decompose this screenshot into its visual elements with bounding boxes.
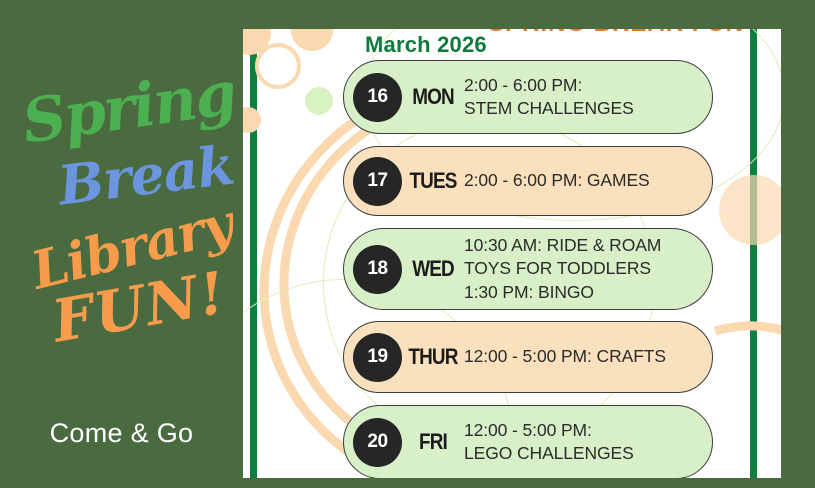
day-number-badge: 19 (353, 333, 402, 382)
event-line: STEM CHALLENGES (464, 97, 712, 120)
event-text: 2:00 - 6:00 PM: GAMES (464, 169, 712, 192)
day-abbr-label: WED (406, 256, 459, 282)
event-line: TOYS FOR TODDLERS (464, 257, 712, 280)
day-abbr-label: MON (406, 84, 459, 110)
flyer-panel: SPRING BREAK FUN March 2026 16 MON 2:00 … (243, 29, 781, 478)
schedule-row-fri[interactable]: 20 FRI 12:00 - 5:00 PM: LEGO CHALLENGES (343, 405, 713, 478)
event-line: 12:00 - 5:00 PM: CRAFTS (464, 345, 712, 368)
schedule-row-mon[interactable]: 16 MON 2:00 - 6:00 PM: STEM CHALLENGES (343, 60, 713, 134)
day-number-badge: 16 (353, 73, 402, 122)
schedule-row-tues[interactable]: 17 TUES 2:00 - 6:00 PM: GAMES (343, 146, 713, 216)
month-label: March 2026 (365, 32, 487, 58)
day-abbr-label: TUES (406, 168, 459, 194)
event-line: 2:00 - 6:00 PM: (464, 74, 712, 97)
event-line: 2:00 - 6:00 PM: GAMES (464, 169, 712, 192)
day-number-badge: 17 (353, 157, 402, 206)
day-number-badge: 18 (353, 245, 402, 294)
event-text: 12:00 - 5:00 PM: LEGO CHALLENGES (464, 419, 712, 465)
event-line: 1:30 PM: BINGO (464, 281, 712, 304)
flyer-clipped-heading: SPRING BREAK FUN (488, 29, 744, 38)
day-abbr-label: FRI (406, 429, 459, 455)
schedule-row-thur[interactable]: 19 THUR 12:00 - 5:00 PM: CRAFTS (343, 321, 713, 393)
schedule-row-wed[interactable]: 18 WED 10:30 AM: RIDE & ROAM TOYS FOR TO… (343, 228, 713, 310)
left-promo-panel: Spring Break Library FUN! Come & Go (0, 0, 243, 488)
event-text: 2:00 - 6:00 PM: STEM CHALLENGES (464, 74, 712, 120)
event-text: 10:30 AM: RIDE & ROAM TOYS FOR TODDLERS … (464, 234, 712, 303)
come-and-go-note: Come & Go (0, 418, 243, 449)
event-line: 10:30 AM: RIDE & ROAM (464, 234, 712, 257)
event-text: 12:00 - 5:00 PM: CRAFTS (464, 345, 712, 368)
day-number-badge: 20 (353, 418, 402, 467)
day-abbr-label: THUR (406, 344, 459, 370)
event-line: LEGO CHALLENGES (464, 442, 712, 465)
schedule-list: 16 MON 2:00 - 6:00 PM: STEM CHALLENGES 1… (243, 29, 781, 478)
event-line: 12:00 - 5:00 PM: (464, 419, 712, 442)
